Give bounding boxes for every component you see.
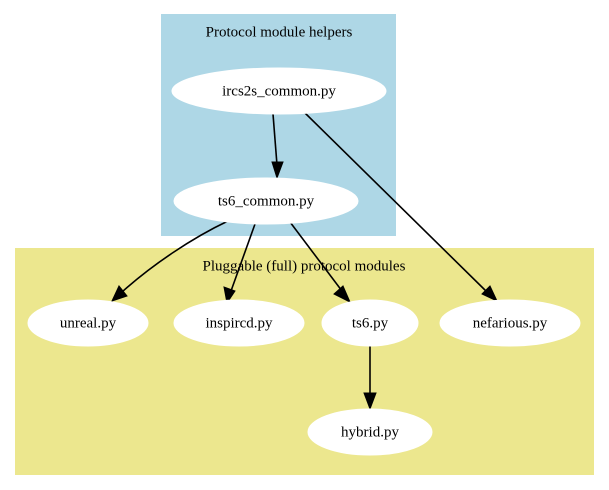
cluster-background-pluggable xyxy=(15,248,594,475)
diagram-canvas: Protocol module helpersPluggable (full) … xyxy=(0,0,609,490)
node-label-inspircd: inspircd.py xyxy=(205,315,273,331)
node-label-ts6: ts6.py xyxy=(352,315,389,331)
node-unreal[interactable]: unreal.py xyxy=(28,300,148,346)
node-ts6[interactable]: ts6.py xyxy=(322,300,418,346)
protocol-module-graph: Protocol module helpersPluggable (full) … xyxy=(0,0,609,490)
node-inspircd[interactable]: inspircd.py xyxy=(174,300,304,346)
node-label-unreal: unreal.py xyxy=(60,315,117,331)
cluster-label-pluggable: Pluggable (full) protocol modules xyxy=(203,258,406,274)
node-label-hybrid: hybrid.py xyxy=(341,424,399,440)
node-label-ts6_common: ts6_common.py xyxy=(218,193,315,209)
node-ts6_common[interactable]: ts6_common.py xyxy=(174,178,358,224)
node-label-nefarious: nefarious.py xyxy=(473,315,548,331)
node-ircs2s_common[interactable]: ircs2s_common.py xyxy=(172,68,386,114)
cluster-pluggable: Pluggable (full) protocol modules xyxy=(15,248,594,475)
node-nefarious[interactable]: nefarious.py xyxy=(440,300,580,346)
node-hybrid[interactable]: hybrid.py xyxy=(308,409,432,455)
cluster-label-helpers: Protocol module helpers xyxy=(206,24,353,40)
node-label-ircs2s_common: ircs2s_common.py xyxy=(222,83,336,99)
